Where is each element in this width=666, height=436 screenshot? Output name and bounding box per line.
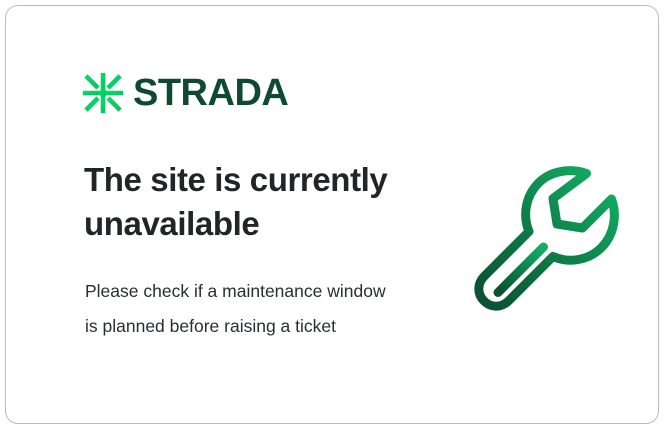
strada-asterisk-icon: [82, 72, 124, 114]
page-heading: The site is currently unavailable: [84, 158, 434, 245]
maintenance-card: STRADA The site is currently unavailable…: [5, 5, 659, 424]
brand-logo: STRADA: [82, 72, 288, 114]
brand-wordmark: STRADA: [133, 74, 288, 112]
wrench-icon: [458, 156, 623, 316]
page-body-text: Please check if a maintenance window is …: [85, 274, 395, 344]
